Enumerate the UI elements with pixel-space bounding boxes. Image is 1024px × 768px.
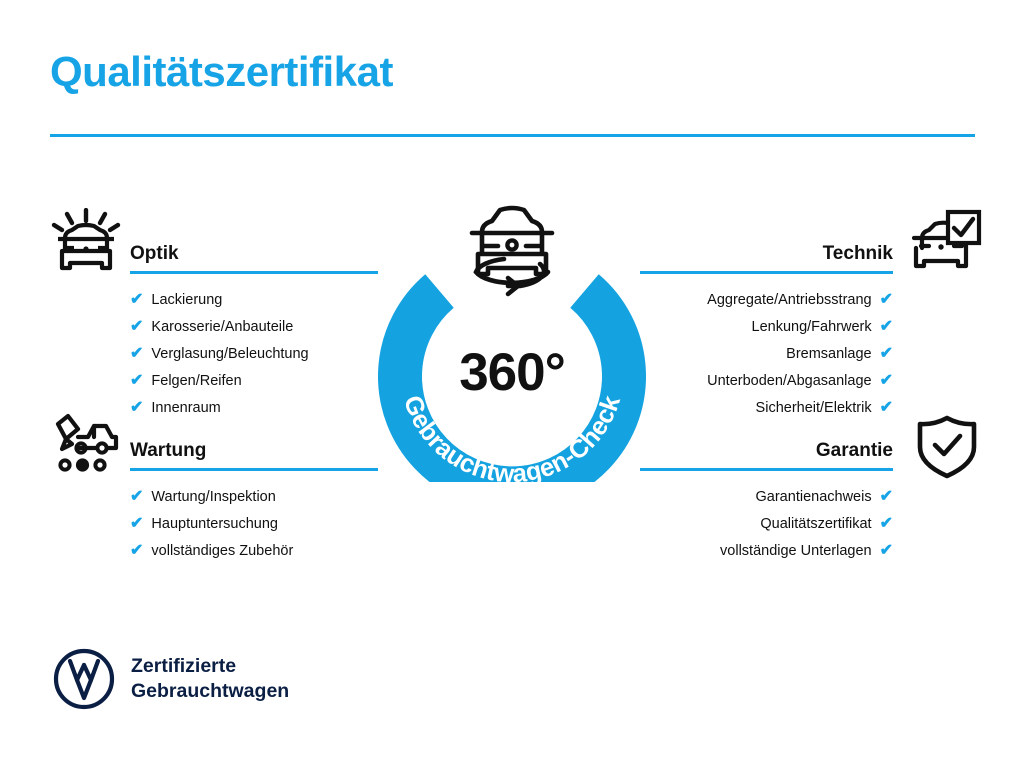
list-item: ✔ Lackierung: [130, 286, 378, 313]
list-item-label: Wartung/Inspektion: [151, 490, 275, 505]
section-technik-title: Technik: [823, 243, 893, 265]
list-item-label: Verglasung/Beleuchtung: [151, 347, 308, 362]
list-item: ✔ Karosserie/Anbauteile: [130, 313, 378, 340]
list-item-label: vollständige Unterlagen: [720, 544, 872, 559]
shield-check-icon: [912, 414, 988, 484]
check-icon: ✔: [130, 489, 143, 505]
section-wartung-list: ✔ Wartung/Inspektion ✔ Hauptuntersuchung…: [130, 483, 378, 564]
footer-line-2: Gebrauchtwagen: [131, 679, 289, 704]
list-item-label: Bremsanlage: [786, 347, 871, 362]
footer-text: Zertifizierte Gebrauchtwagen: [131, 654, 289, 704]
section-garantie-list: Garantienachweis ✔ Qualitätszertifikat ✔…: [640, 483, 893, 564]
header-divider: [50, 134, 975, 137]
section-wartung: Wartung ✔ Wartung/Inspektion ✔ Hauptunte…: [130, 425, 378, 564]
list-item: Bremsanlage ✔: [640, 340, 893, 367]
page-title: Qualitätszertifikat: [50, 48, 393, 96]
list-item: ✔ vollständiges Zubehör: [130, 537, 378, 564]
list-item-label: Aggregate/Antriebsstrang: [707, 293, 871, 308]
check-icon: ✔: [130, 400, 143, 416]
car-shine-icon: [48, 208, 124, 278]
check-icon: ✔: [880, 373, 893, 389]
list-item-label: Hauptuntersuchung: [151, 517, 278, 532]
list-item: Qualitätszertifikat ✔: [640, 510, 893, 537]
section-wartung-title: Wartung: [130, 440, 206, 462]
list-item: ✔ Wartung/Inspektion: [130, 483, 378, 510]
check-icon: ✔: [880, 543, 893, 559]
list-item-label: Karosserie/Anbauteile: [151, 320, 293, 335]
list-item-label: Unterboden/Abgasanlage: [707, 374, 871, 389]
check-icon: ✔: [130, 373, 143, 389]
car-checkbox-icon: [908, 208, 984, 278]
section-technik-header: Technik: [640, 228, 893, 274]
section-optik-header: Optik: [130, 228, 378, 274]
list-item: Aggregate/Antriebsstrang ✔: [640, 286, 893, 313]
footer-line-1: Zertifizierte: [131, 654, 289, 679]
list-item-label: Lenkung/Fahrwerk: [752, 320, 872, 335]
list-item-label: vollständiges Zubehör: [151, 544, 293, 559]
list-item: ✔ Felgen/Reifen: [130, 367, 378, 394]
list-item: Sicherheit/Elektrik ✔: [640, 394, 893, 421]
section-optik-title: Optik: [130, 243, 179, 265]
list-item-label: Qualitätszertifikat: [760, 517, 871, 532]
car-rotate-360-icon: [452, 198, 572, 308]
section-technik: Technik Aggregate/Antriebsstrang ✔ Lenku…: [640, 228, 893, 421]
section-garantie-divider: [640, 468, 893, 471]
service-book-pencil-car-icon: [48, 412, 124, 482]
check-icon: ✔: [130, 319, 143, 335]
list-item: ✔ Hauptuntersuchung: [130, 510, 378, 537]
section-optik-list: ✔ Lackierung ✔ Karosserie/Anbauteile ✔ V…: [130, 286, 378, 421]
list-item: Lenkung/Fahrwerk ✔: [640, 313, 893, 340]
list-item-label: Felgen/Reifen: [151, 374, 241, 389]
footer-branding: Zertifizierte Gebrauchtwagen: [53, 648, 289, 710]
list-item-label: Sicherheit/Elektrik: [756, 401, 872, 416]
certificate-page: Qualitätszertifikat Optik: [0, 0, 1024, 768]
section-garantie-title: Garantie: [816, 440, 893, 462]
check-icon: ✔: [880, 489, 893, 505]
section-technik-list: Aggregate/Antriebsstrang ✔ Lenkung/Fahrw…: [640, 286, 893, 421]
check-icon: ✔: [130, 292, 143, 308]
section-garantie: Garantie Garantienachweis ✔ Qualitätszer…: [640, 425, 893, 564]
check-icon: ✔: [130, 516, 143, 532]
badge-center-text: 360°: [378, 342, 646, 403]
section-garantie-header: Garantie: [640, 425, 893, 471]
section-wartung-header: Wartung: [130, 425, 378, 471]
check-icon: ✔: [880, 319, 893, 335]
check-icon: ✔: [880, 292, 893, 308]
check-icon: ✔: [880, 516, 893, 532]
list-item-label: Lackierung: [151, 293, 222, 308]
check-icon: ✔: [130, 346, 143, 362]
check-icon: ✔: [130, 543, 143, 559]
section-technik-divider: [640, 271, 893, 274]
check-icon: ✔: [880, 400, 893, 416]
list-item: ✔ Innenraum: [130, 394, 378, 421]
list-item-label: Innenraum: [151, 401, 220, 416]
check-icon: ✔: [880, 346, 893, 362]
list-item: ✔ Verglasung/Beleuchtung: [130, 340, 378, 367]
vw-logo-icon: [53, 648, 115, 710]
list-item: vollständige Unterlagen ✔: [640, 537, 893, 564]
section-optik-divider: [130, 271, 378, 274]
section-optik: Optik ✔ Lackierung ✔ Karosserie/Anbautei…: [130, 228, 378, 421]
list-item: Unterboden/Abgasanlage ✔: [640, 367, 893, 394]
list-item-label: Garantienachweis: [756, 490, 872, 505]
section-wartung-divider: [130, 468, 378, 471]
list-item: Garantienachweis ✔: [640, 483, 893, 510]
